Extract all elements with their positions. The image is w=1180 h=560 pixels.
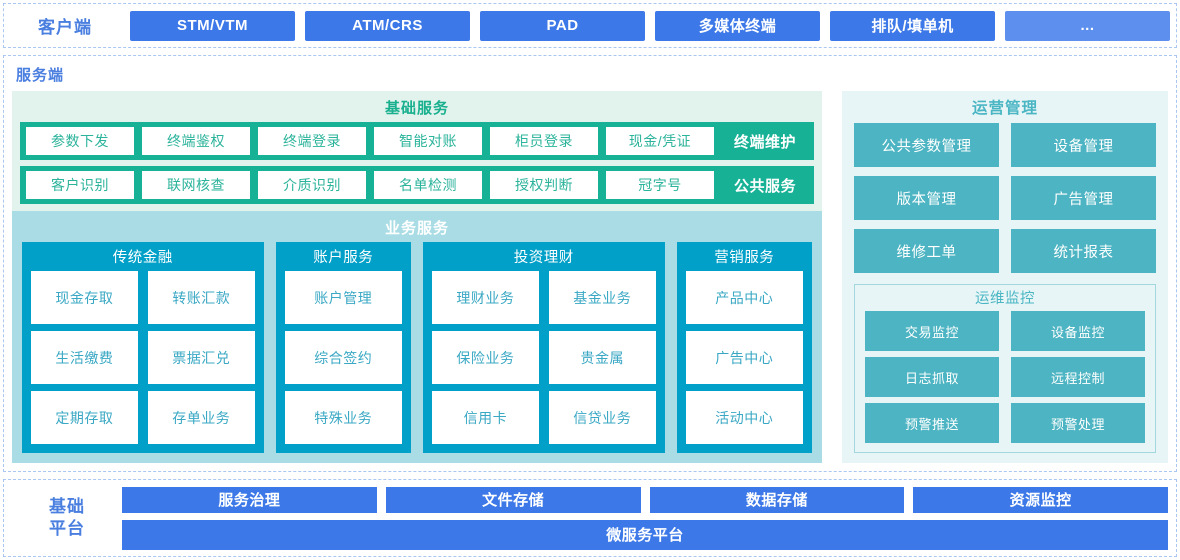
architecture-diagram: 客户端 STM/VTM ATM/CRS PAD 多媒体终端 排队/填单机 ...… — [0, 0, 1180, 560]
biz-chip-cash-deposit-withdrawal[interactable]: 现金存取 — [31, 271, 138, 324]
biz-chip-insurance-business[interactable]: 保险业务 — [432, 331, 539, 384]
biz-chip-living-payment[interactable]: 生活缴费 — [31, 331, 138, 384]
client-section: 客户端 STM/VTM ATM/CRS PAD 多媒体终端 排队/填单机 ... — [3, 3, 1177, 48]
business-group-title-investment: 投资理财 — [432, 246, 656, 271]
basic-chip-media-recognition[interactable]: 介质识别 — [258, 171, 366, 199]
platform-title-line1: 基础 — [12, 496, 122, 518]
services-column: 基础服务 参数下发 终端鉴权 终端登录 智能对账 柜员登录 现金/凭证 终端维护… — [12, 91, 822, 463]
basic-chip-terminal-auth[interactable]: 终端鉴权 — [142, 127, 250, 155]
basic-chip-terminal-login[interactable]: 终端登录 — [258, 127, 366, 155]
biz-chip-advertising-center[interactable]: 广告中心 — [686, 331, 803, 384]
monitor-chip-alert-handling[interactable]: 预警处理 — [1011, 403, 1145, 443]
server-section: 服务端 基础服务 参数下发 终端鉴权 终端登录 智能对账 柜员登录 现金/凭证 … — [3, 55, 1177, 472]
monitor-chip-log-capture[interactable]: 日志抓取 — [865, 357, 999, 397]
operations-management-grid: 公共参数管理 设备管理 版本管理 广告管理 维修工单 统计报表 — [854, 123, 1156, 273]
biz-chip-product-center[interactable]: 产品中心 — [686, 271, 803, 324]
business-group-items-account-service: 账户管理 综合签约 特殊业务 — [285, 271, 402, 444]
client-button-stm-vtm[interactable]: STM/VTM — [130, 11, 295, 41]
client-button-more[interactable]: ... — [1005, 11, 1170, 41]
business-group-title-marketing: 营销服务 — [686, 246, 803, 271]
platform-button-microservice-platform[interactable]: 微服务平台 — [122, 520, 1168, 550]
client-section-title: 客户端 — [10, 13, 120, 38]
monitor-chip-transaction-monitoring[interactable]: 交易监控 — [865, 311, 999, 351]
platform-title-line2: 平台 — [12, 518, 122, 540]
client-button-atm-crs[interactable]: ATM/CRS — [305, 11, 470, 41]
platform-section-title: 基础 平台 — [12, 496, 122, 540]
monitor-chip-alert-push[interactable]: 预警推送 — [865, 403, 999, 443]
biz-chip-account-management[interactable]: 账户管理 — [285, 271, 402, 324]
business-group-items-investment: 理财业务 基金业务 保险业务 贵金属 信用卡 信贷业务 — [432, 271, 656, 444]
business-services-groups: 传统金融 现金存取 转账汇款 生活缴费 票据汇兑 定期存取 存单业务 — [22, 242, 812, 453]
basic-chip-authorization-judgment[interactable]: 授权判断 — [490, 171, 598, 199]
ops-chip-repair-work-order[interactable]: 维修工单 — [854, 229, 999, 273]
basic-services-row-label-terminal-maintenance: 终端维护 — [722, 127, 808, 155]
platform-button-row: 服务治理 文件存储 数据存储 资源监控 — [122, 487, 1168, 513]
server-section-title: 服务端 — [16, 64, 1168, 85]
basic-chip-serial-number[interactable]: 冠字号 — [606, 171, 714, 199]
basic-chip-smart-reconciliation[interactable]: 智能对账 — [374, 127, 482, 155]
client-button-pad[interactable]: PAD — [480, 11, 645, 41]
platform-button-service-governance[interactable]: 服务治理 — [122, 487, 377, 513]
operations-management-title: 运营管理 — [854, 95, 1156, 123]
business-group-items-marketing: 产品中心 广告中心 活动中心 — [686, 271, 803, 444]
platform-button-data-storage[interactable]: 数据存储 — [650, 487, 905, 513]
basic-services-row-public-service: 客户识别 联网核查 介质识别 名单检测 授权判断 冠字号 公共服务 — [20, 166, 814, 204]
business-services-block: 业务服务 传统金融 现金存取 转账汇款 生活缴费 票据汇兑 定期存取 存单业务 — [12, 211, 822, 463]
biz-chip-fund-business[interactable]: 基金业务 — [549, 271, 656, 324]
client-button-queue-form-machine[interactable]: 排队/填单机 — [830, 11, 995, 41]
business-group-account-service: 账户服务 账户管理 综合签约 特殊业务 — [276, 242, 411, 453]
platform-button-file-storage[interactable]: 文件存储 — [386, 487, 641, 513]
basic-chip-customer-identification[interactable]: 客户识别 — [26, 171, 134, 199]
operations-management-panel: 运营管理 公共参数管理 设备管理 版本管理 广告管理 维修工单 统计报表 运维监… — [842, 91, 1168, 463]
ops-chip-device-management[interactable]: 设备管理 — [1011, 123, 1156, 167]
business-services-heading: 业务服务 — [22, 215, 812, 242]
platform-buttons: 服务治理 文件存储 数据存储 资源监控 微服务平台 — [122, 487, 1168, 550]
biz-chip-fixed-deposit[interactable]: 定期存取 — [31, 391, 138, 444]
basic-chip-param-delivery[interactable]: 参数下发 — [26, 127, 134, 155]
basic-services-row-label-public-service: 公共服务 — [722, 171, 808, 199]
biz-chip-precious-metals[interactable]: 贵金属 — [549, 331, 656, 384]
platform-section: 基础 平台 服务治理 文件存储 数据存储 资源监控 微服务平台 — [3, 479, 1177, 557]
monitor-chip-remote-control[interactable]: 远程控制 — [1011, 357, 1145, 397]
client-button-multimedia-terminal[interactable]: 多媒体终端 — [655, 11, 820, 41]
biz-chip-certificate-deposit[interactable]: 存单业务 — [148, 391, 255, 444]
business-group-traditional-finance: 传统金融 现金存取 转账汇款 生活缴费 票据汇兑 定期存取 存单业务 — [22, 242, 264, 453]
monitor-chip-device-monitoring[interactable]: 设备监控 — [1011, 311, 1145, 351]
ops-chip-version-management[interactable]: 版本管理 — [854, 176, 999, 220]
ops-chip-statistical-reports[interactable]: 统计报表 — [1011, 229, 1156, 273]
biz-chip-special-business[interactable]: 特殊业务 — [285, 391, 402, 444]
biz-chip-bill-exchange[interactable]: 票据汇兑 — [148, 331, 255, 384]
business-group-title-account-service: 账户服务 — [285, 246, 402, 271]
server-body: 基础服务 参数下发 终端鉴权 终端登录 智能对账 柜员登录 现金/凭证 终端维护… — [12, 91, 1168, 463]
basic-services-heading: 基础服务 — [20, 96, 814, 122]
biz-chip-credit-business[interactable]: 信贷业务 — [549, 391, 656, 444]
platform-button-resource-monitoring[interactable]: 资源监控 — [913, 487, 1168, 513]
basic-services-row-terminal-maintenance: 参数下发 终端鉴权 终端登录 智能对账 柜员登录 现金/凭证 终端维护 — [20, 122, 814, 160]
business-group-title-traditional-finance: 传统金融 — [31, 246, 255, 271]
basic-chip-cash-voucher[interactable]: 现金/凭证 — [606, 127, 714, 155]
ops-monitoring-box: 运维监控 交易监控 设备监控 日志抓取 远程控制 预警推送 预警处理 — [854, 284, 1156, 453]
business-group-items-traditional-finance: 现金存取 转账汇款 生活缴费 票据汇兑 定期存取 存单业务 — [31, 271, 255, 444]
biz-chip-transfer-remittance[interactable]: 转账汇款 — [148, 271, 255, 324]
biz-chip-comprehensive-signing[interactable]: 综合签约 — [285, 331, 402, 384]
basic-chip-list-check[interactable]: 名单检测 — [374, 171, 482, 199]
ops-monitoring-grid: 交易监控 设备监控 日志抓取 远程控制 预警推送 预警处理 — [865, 311, 1145, 443]
ops-chip-public-parameter-management[interactable]: 公共参数管理 — [854, 123, 999, 167]
business-group-marketing: 营销服务 产品中心 广告中心 活动中心 — [677, 242, 812, 453]
basic-services-block: 基础服务 参数下发 终端鉴权 终端登录 智能对账 柜员登录 现金/凭证 终端维护… — [12, 91, 822, 211]
biz-chip-wealth-management[interactable]: 理财业务 — [432, 271, 539, 324]
basic-chip-teller-login[interactable]: 柜员登录 — [490, 127, 598, 155]
biz-chip-credit-card[interactable]: 信用卡 — [432, 391, 539, 444]
biz-chip-activity-center[interactable]: 活动中心 — [686, 391, 803, 444]
ops-chip-advertising-management[interactable]: 广告管理 — [1011, 176, 1156, 220]
basic-chip-network-verification[interactable]: 联网核查 — [142, 171, 250, 199]
business-group-investment: 投资理财 理财业务 基金业务 保险业务 贵金属 信用卡 信贷业务 — [423, 242, 665, 453]
ops-monitoring-title: 运维监控 — [865, 287, 1145, 311]
